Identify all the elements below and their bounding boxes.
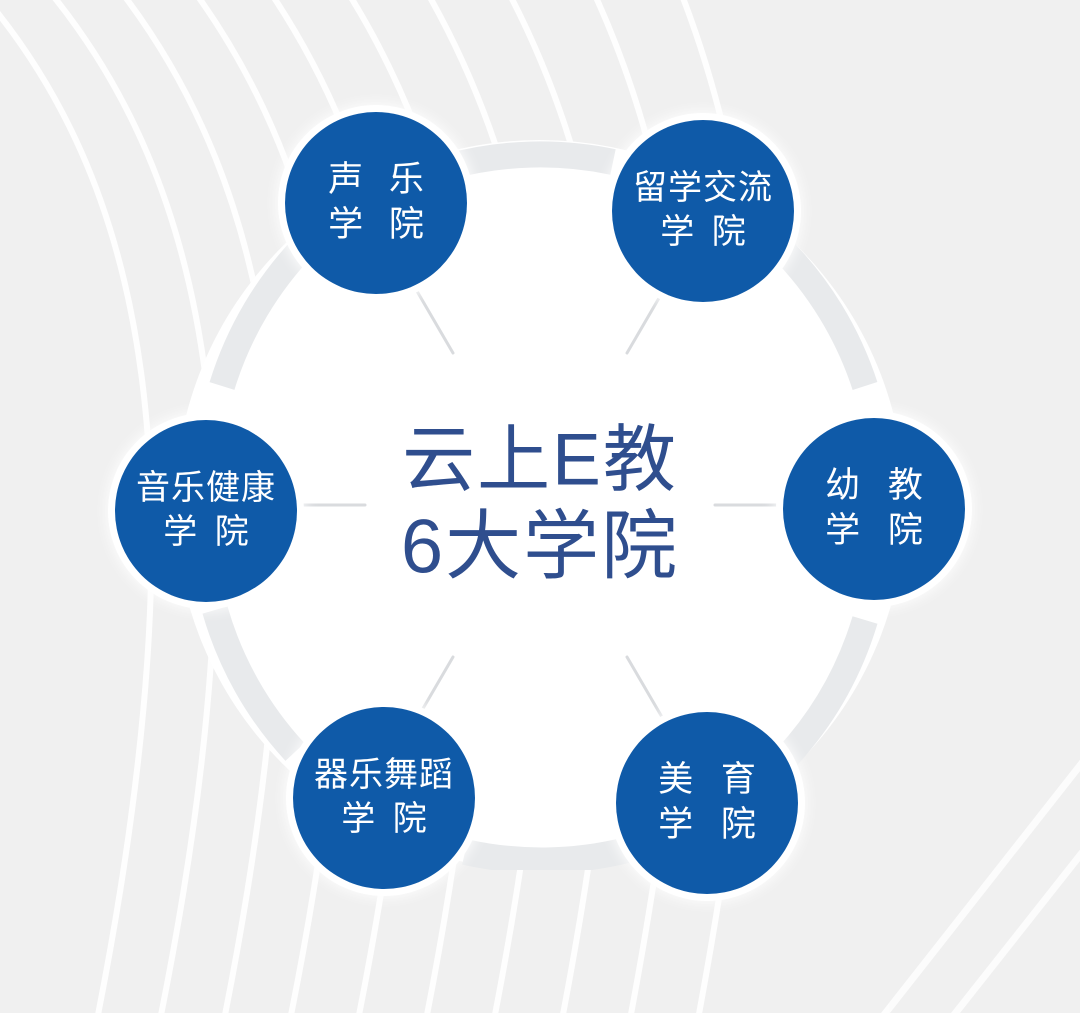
- node-label-line-1: 器乐舞蹈: [314, 754, 454, 798]
- node-label-line-1: 幼 教: [816, 464, 932, 509]
- node-label-line-2: 学 院: [656, 211, 749, 255]
- node-label-line-1: 留学交流: [633, 167, 773, 211]
- node-early-childhood-academy[interactable]: 幼 教 学 院: [783, 418, 965, 600]
- node-label-line-2: 学 院: [159, 511, 252, 555]
- node-label-line-1: 声 乐: [320, 158, 432, 203]
- node-label-line-2: 学 院: [649, 803, 765, 848]
- node-label-line-1: 音乐健康: [136, 467, 276, 511]
- node-label-line-1: 美 育: [649, 758, 765, 803]
- node-label-line-2: 学 院: [320, 203, 432, 248]
- node-study-abroad-academy[interactable]: 留学交流 学 院: [612, 120, 794, 302]
- node-music-health-academy[interactable]: 音乐健康 学 院: [115, 420, 297, 602]
- infographic-canvas: 云上E教 6大学院 声 乐 学 院 留学交流 学 院 幼 教 学 院 美 育 学…: [0, 0, 1080, 1013]
- node-label-line-2: 学 院: [337, 798, 430, 842]
- center-title-line-2: 6大学院: [330, 506, 750, 588]
- node-aesthetic-education-academy[interactable]: 美 育 学 院: [616, 712, 798, 894]
- center-title-line-1: 云上E教: [330, 422, 750, 501]
- node-instrument-dance-academy[interactable]: 器乐舞蹈 学 院: [293, 707, 475, 889]
- node-vocal-academy[interactable]: 声 乐 学 院: [285, 112, 467, 294]
- node-label-line-2: 学 院: [816, 509, 932, 554]
- center-title: 云上E教 6大学院: [330, 422, 750, 589]
